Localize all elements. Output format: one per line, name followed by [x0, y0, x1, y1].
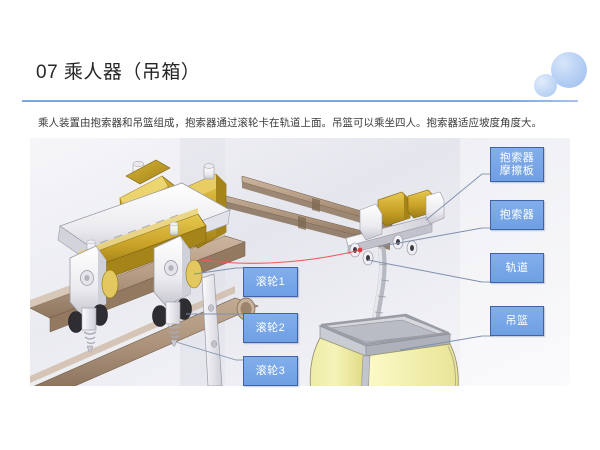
callout-basket-label: 吊篮 [506, 315, 529, 328]
title-divider [22, 100, 578, 102]
callout-basket[interactable]: 吊篮 [490, 306, 544, 336]
callout-roller-1-label: 滚轮1 [256, 276, 286, 289]
callout-roller-3-label: 滚轮3 [256, 365, 286, 378]
callout-roller-3[interactable]: 滚轮3 [243, 356, 298, 386]
cad-illustration [30, 138, 570, 386]
callout-gripper-label: 抱索器 [500, 209, 535, 222]
figure-illustration [30, 138, 570, 386]
intro-paragraph: 乘人装置由抱索器和吊篮组成，抱索器通过滚轮卡在轨道上面。吊篮可以乘坐四人。抱索器… [38, 116, 578, 131]
callout-track[interactable]: 轨道 [490, 253, 544, 283]
callout-gripper-friction-plate[interactable]: 抱索器 摩擦板 [490, 147, 544, 182]
callout-track-label: 轨道 [506, 262, 529, 275]
callout-friction-plate-line2: 摩擦板 [500, 165, 535, 178]
circle-small-icon [534, 74, 557, 97]
callout-gripper[interactable]: 抱索器 [490, 200, 544, 230]
page-title: 07 乘人器（吊箱） [36, 57, 200, 84]
callout-roller-1[interactable]: 滚轮1 [243, 267, 298, 297]
highlight-point [358, 248, 363, 253]
callout-roller-2-label: 滚轮2 [256, 322, 286, 335]
callout-roller-2[interactable]: 滚轮2 [243, 313, 298, 343]
slide-root: 07 乘人器（吊箱） 乘人装置由抱索器和吊篮组成，抱索器通过滚轮卡在轨道上面。吊… [0, 0, 600, 450]
callout-friction-plate-line1: 抱索器 [500, 152, 535, 165]
